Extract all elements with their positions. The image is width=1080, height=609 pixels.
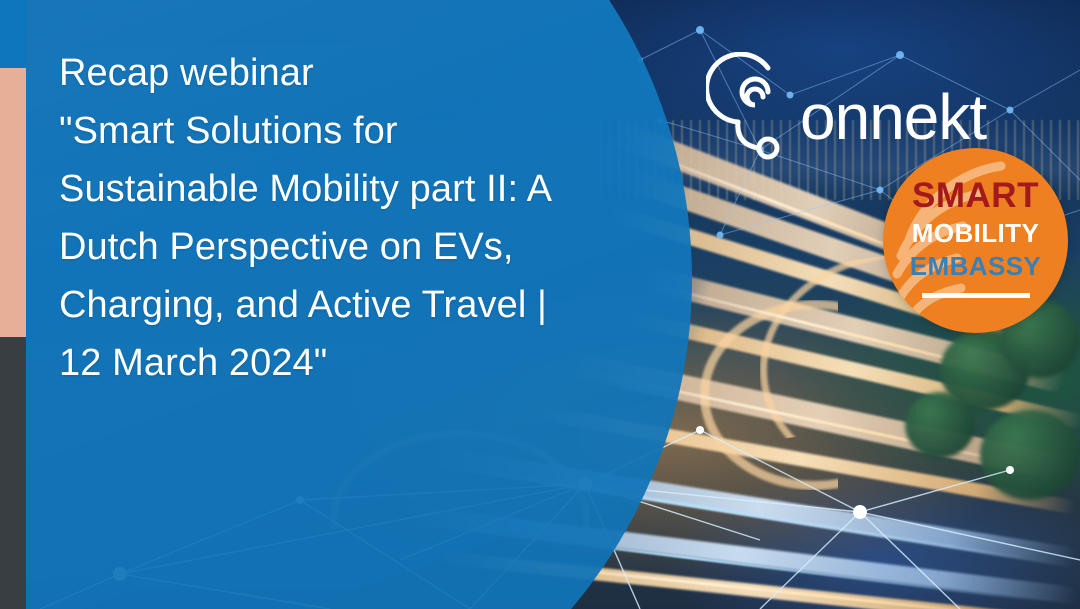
badge-underline [922, 293, 1030, 298]
connekt-wordmark: onnekt [800, 85, 986, 149]
edge-strip [0, 0, 26, 609]
webinar-recap-banner: Recap webinar "Smart Solutions for Susta… [0, 0, 1080, 609]
connekt-spiral-c-icon [706, 52, 806, 164]
edge-strip-segment-peach [0, 68, 26, 337]
edge-strip-segment-blue [0, 0, 26, 68]
badge-line-embassy: EMBASSY [883, 253, 1068, 279]
page-title: Recap webinar "Smart Solutions for Susta… [59, 44, 699, 392]
badge-line-mobility: MOBILITY [883, 220, 1068, 246]
edge-strip-segment-dark [0, 337, 26, 609]
smart-mobility-embassy-badge: SMART MOBILITY EMBASSY [883, 148, 1068, 333]
badge-line-smart: SMART [883, 178, 1068, 213]
smart-mobility-embassy-text: SMART MOBILITY EMBASSY [883, 178, 1068, 279]
